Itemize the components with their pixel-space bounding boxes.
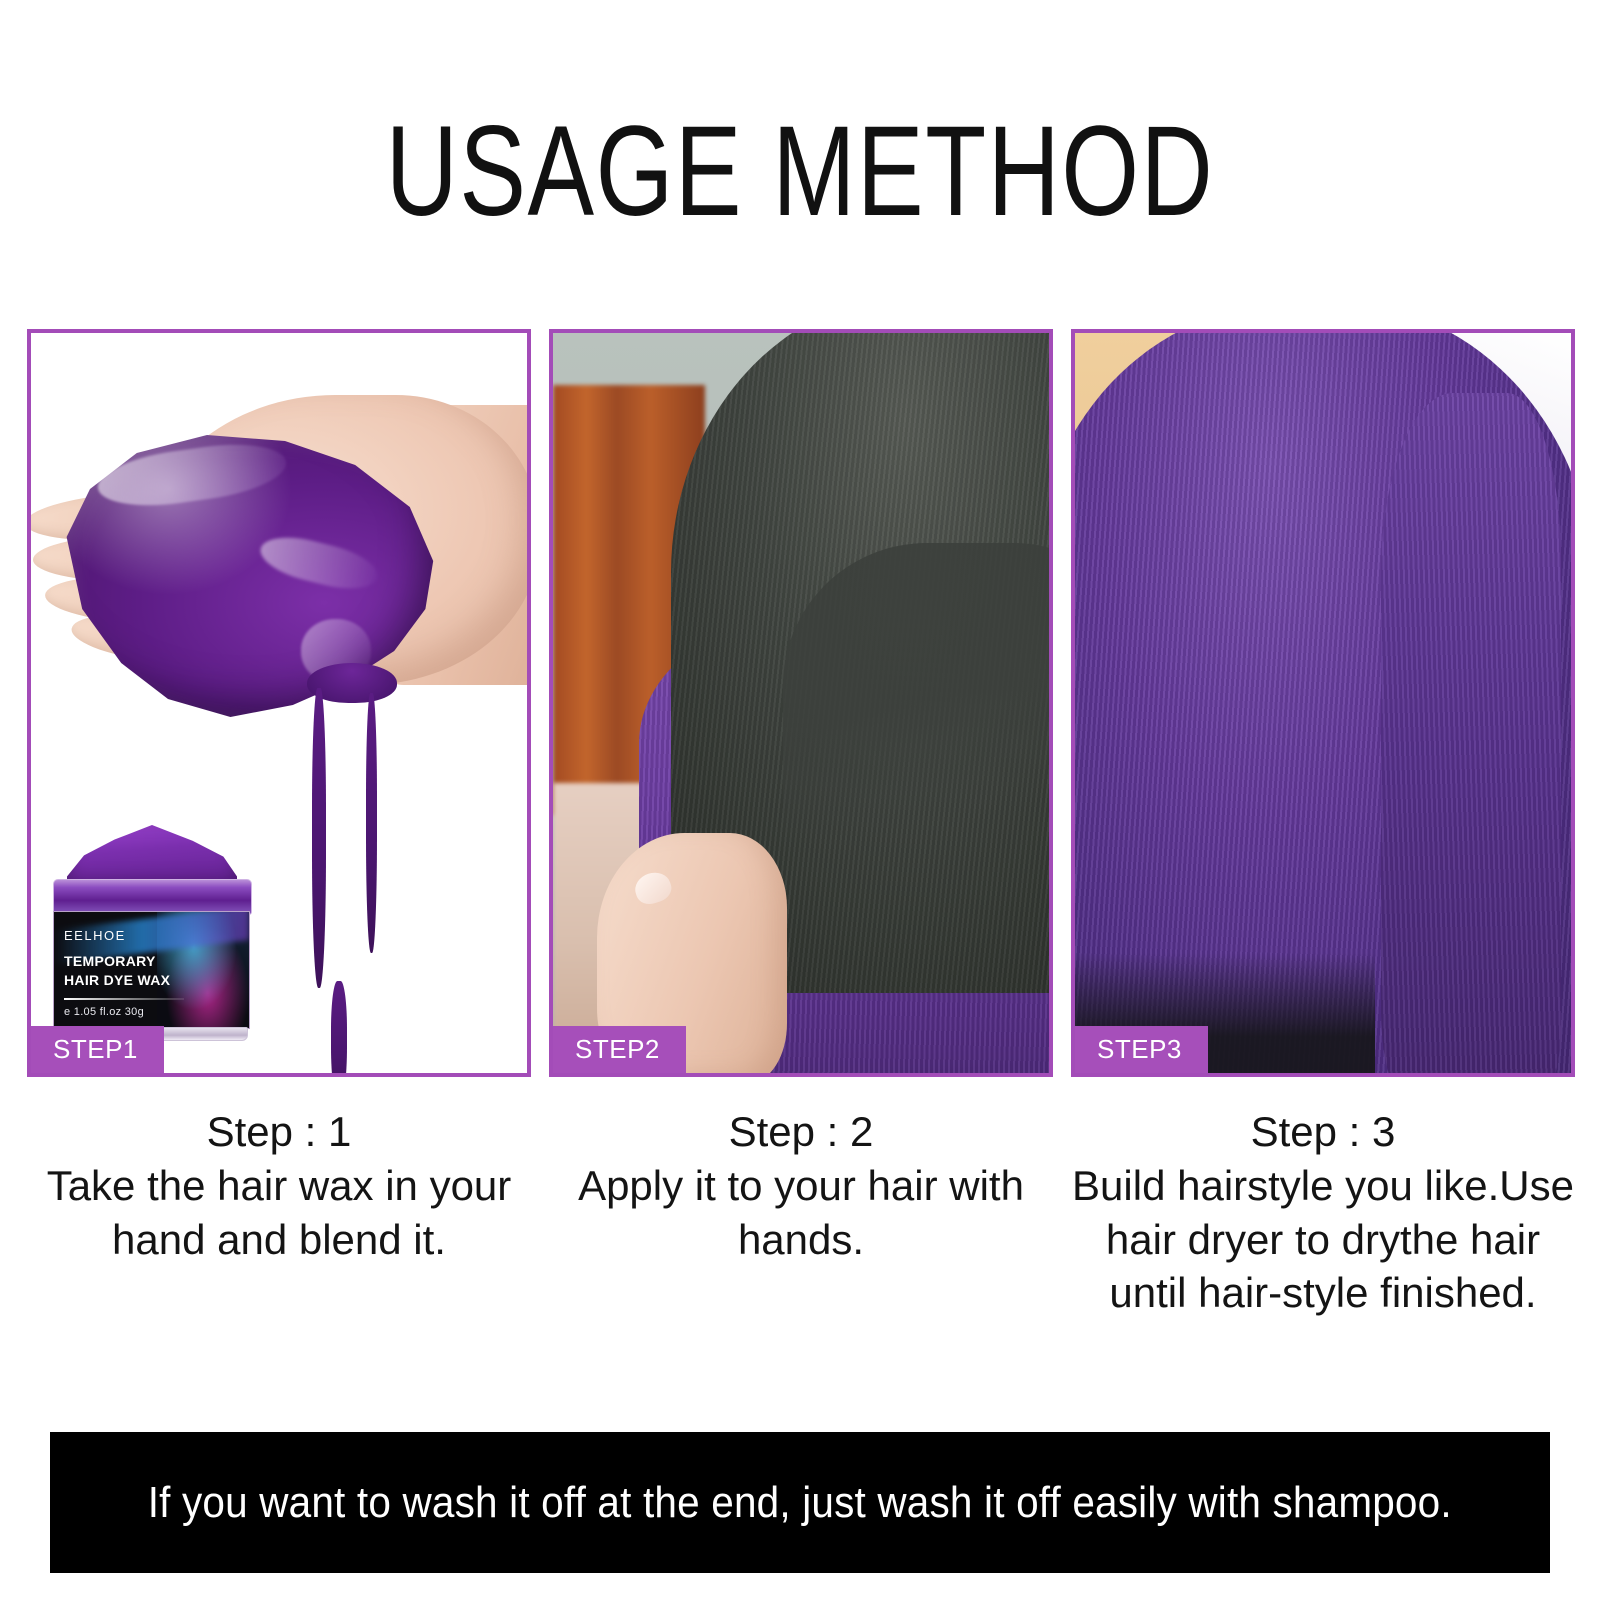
step-caption-3-body: Build hairstyle you like.Use hair dryer …: [1071, 1159, 1575, 1320]
product-jar: EELHOE TEMPORARY HAIR DYE WAX e 1.05 fl.…: [49, 825, 254, 1043]
product-size: e 1.05 fl.oz 30g: [64, 1006, 144, 1018]
step2-image: [553, 333, 1049, 1073]
step-badge-2: STEP2: [553, 1026, 686, 1073]
product-name-line1: TEMPORARY: [64, 953, 156, 969]
step-caption-3-title: Step : 3: [1071, 1105, 1575, 1159]
wax-drip: [331, 981, 347, 1073]
product-name-line2: HAIR DYE WAX: [64, 972, 170, 988]
step-captions-row: Step : 1 Take the hair wax in your hand …: [27, 1105, 1575, 1320]
step-caption-1-title: Step : 1: [27, 1105, 531, 1159]
wax-drip: [366, 693, 377, 953]
step-caption-3: Step : 3 Build hairstyle you like.Use ha…: [1071, 1105, 1575, 1320]
step-caption-1: Step : 1 Take the hair wax in your hand …: [27, 1105, 531, 1320]
product-name: TEMPORARY HAIR DYE WAX: [64, 952, 194, 990]
step1-image: EELHOE TEMPORARY HAIR DYE WAX e 1.05 fl.…: [31, 333, 527, 1073]
step-caption-2: Step : 2 Apply it to your hair with hand…: [549, 1105, 1053, 1320]
step-caption-1-body: Take the hair wax in your hand and blend…: [27, 1159, 531, 1267]
jar-label: EELHOE TEMPORARY HAIR DYE WAX e 1.05 fl.…: [53, 911, 250, 1029]
step-panel-3: STEP3: [1071, 329, 1575, 1077]
step-panel-2: STEP2: [549, 329, 1053, 1077]
footer-text: If you want to wash it off at the end, j…: [148, 1473, 1452, 1532]
step-caption-2-body: Apply it to your hair with hands.: [549, 1159, 1053, 1267]
product-brand: EELHOE: [64, 928, 126, 943]
jar-lid: [53, 879, 252, 915]
wax-drip: [312, 688, 326, 988]
page-title: USAGE METHOD: [176, 108, 1424, 236]
purple-hair-front-strands: [1381, 393, 1561, 1073]
step-caption-2-title: Step : 2: [549, 1105, 1053, 1159]
step-badge-1: STEP1: [31, 1026, 164, 1073]
label-divider: [64, 998, 184, 1000]
step-panel-1: EELHOE TEMPORARY HAIR DYE WAX e 1.05 fl.…: [27, 329, 531, 1077]
step-badge-3: STEP3: [1075, 1026, 1208, 1073]
footer-banner: If you want to wash it off at the end, j…: [50, 1432, 1550, 1573]
step3-image: [1075, 333, 1571, 1073]
steps-panel-row: EELHOE TEMPORARY HAIR DYE WAX e 1.05 fl.…: [27, 329, 1575, 1077]
hair-color-transition: [783, 543, 1049, 963]
